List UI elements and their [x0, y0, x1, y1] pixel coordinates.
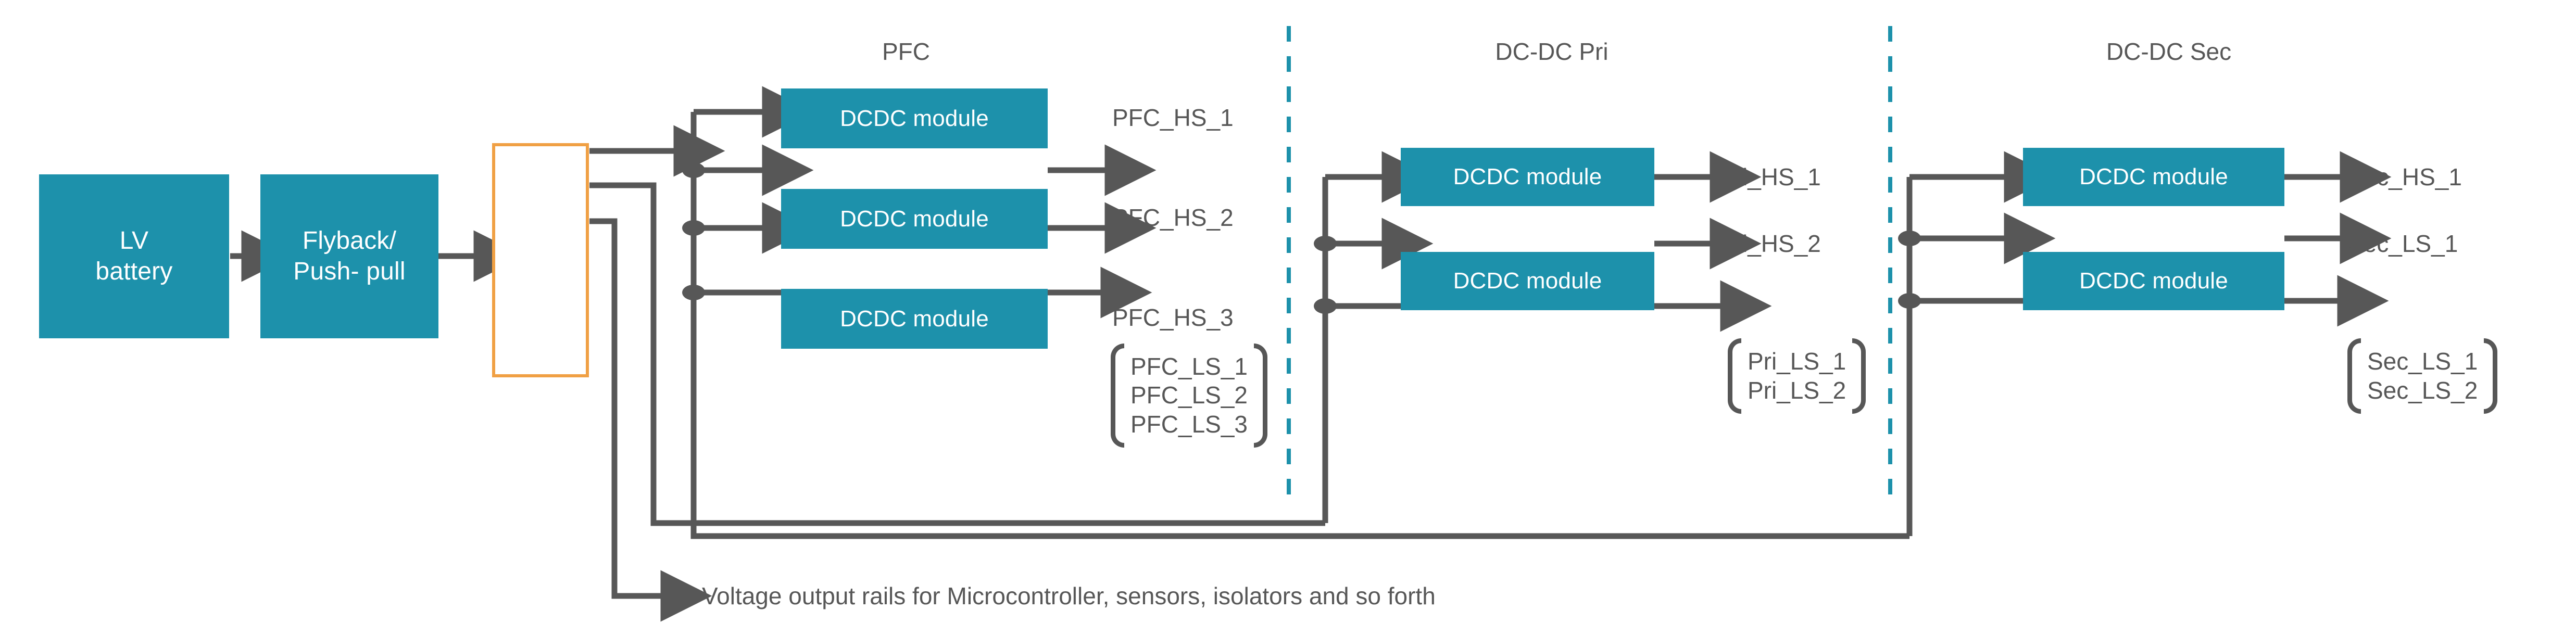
signal-label-pfc-hs-1: PFC_HS_1 — [1112, 103, 1234, 132]
pfc-ls-group: PFC_LS_1 PFC_LS_2 PFC_LS_3 — [1111, 344, 1267, 448]
signal-label-pfc-hs-2: PFC_HS_2 — [1112, 203, 1234, 232]
bracket-right-icon — [1254, 344, 1267, 448]
signal-label-pri-ls-2: Pri_LS_2 — [1748, 376, 1846, 405]
signal-label-pri-ls-1: Pri_LS_1 — [1748, 347, 1846, 376]
pfc-ls-group-rows: PFC_LS_1 PFC_LS_2 PFC_LS_3 — [1124, 349, 1254, 442]
bracket-left-icon — [2347, 338, 2361, 414]
junction-dot — [1898, 293, 1921, 309]
lv-battery-label-line1: LV — [120, 227, 149, 255]
signal-label-sec-ls-1: Sec_LS_1 — [2367, 347, 2478, 376]
bracket-right-icon — [2484, 338, 2497, 414]
section-title-pfc: PFC — [854, 37, 958, 66]
pri-ls-group: Pri_LS_1 Pri_LS_2 — [1728, 338, 1866, 414]
bracket-left-icon — [1111, 344, 1124, 448]
lv-battery-block[interactable]: LV battery — [39, 174, 229, 338]
section-title-dcdc-pri: DC-DC Pri — [1461, 37, 1643, 66]
block-diagram-canvas: LV battery Flyback/ Push- pull PFC DCDC … — [0, 0, 2576, 623]
footnote-label: Voltage output rails for Microcontroller… — [702, 582, 1436, 610]
signal-label-sec-ls-2: Sec_LS_2 — [2367, 376, 2478, 405]
converter-label-line1: Flyback/ — [303, 227, 396, 255]
junction-dot — [682, 162, 705, 178]
signal-label-pfc-hs-3: PFC_HS_3 — [1112, 303, 1234, 332]
pri-dcdc-module-1[interactable]: DCDC module — [1401, 148, 1654, 206]
sec-dcdc-module-1[interactable]: DCDC module — [2023, 148, 2284, 206]
pri-ls-group-rows: Pri_LS_1 Pri_LS_2 — [1741, 344, 1852, 408]
pfc-dcdc-module-2[interactable]: DCDC module — [781, 189, 1048, 249]
pri-dcdc-module-2[interactable]: DCDC module — [1401, 252, 1654, 310]
bracket-right-icon — [1852, 338, 1866, 414]
junction-dot — [682, 220, 705, 236]
sec-ls-group: Sec_LS_1 Sec_LS_2 — [2347, 338, 2497, 414]
signal-label-sec-hs-1: Sec_HS_1 — [2347, 162, 2462, 192]
signal-label-pfc-ls-2: PFC_LS_2 — [1130, 381, 1248, 410]
junction-dot — [1314, 298, 1337, 314]
signal-label-pri-hs-1: Pri_HS_1 — [1718, 162, 1821, 192]
sec-ls-group-rows: Sec_LS_1 Sec_LS_2 — [2361, 344, 2484, 408]
flyback-pushpull-block[interactable]: Flyback/ Push- pull — [260, 174, 438, 338]
signal-label-pri-hs-2: Pri_HS_2 — [1718, 229, 1821, 258]
pfc-dcdc-module-1[interactable]: DCDC module — [781, 88, 1048, 148]
section-title-dcdc-sec: DC-DC Sec — [2078, 37, 2260, 66]
signal-label-sec-ls-1: Sec_LS_1 — [2347, 229, 2458, 258]
junction-dot — [1314, 236, 1337, 251]
signal-label-pfc-ls-3: PFC_LS_3 — [1130, 410, 1248, 439]
sec-dcdc-module-2[interactable]: DCDC module — [2023, 252, 2284, 310]
junction-dot — [1898, 231, 1921, 246]
pfc-dcdc-module-3[interactable]: DCDC module — [781, 289, 1048, 349]
lv-battery-label-line2: battery — [95, 258, 172, 285]
bracket-left-icon — [1728, 338, 1741, 414]
transformer-block[interactable] — [492, 143, 589, 377]
junction-dot — [682, 285, 705, 300]
signal-label-pfc-ls-1: PFC_LS_1 — [1130, 352, 1248, 381]
converter-label-line2: Push- pull — [293, 258, 405, 285]
